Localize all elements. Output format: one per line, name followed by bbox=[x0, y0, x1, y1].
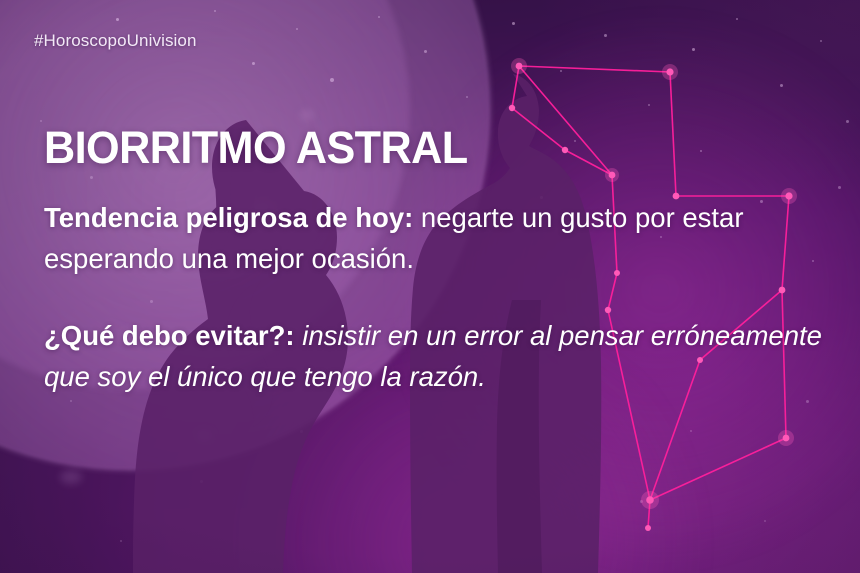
paragraph-tendencia: Tendencia peligrosa de hoy: negarte un g… bbox=[44, 198, 834, 279]
paragraph-evitar-lead: ¿Qué debo evitar?: bbox=[44, 320, 295, 351]
hashtag-label: #HoroscopoUnivision bbox=[34, 31, 197, 51]
paragraph-tendencia-lead: Tendencia peligrosa de hoy: bbox=[44, 202, 413, 233]
horoscope-card: #HoroscopoUnivision BIORRITMO ASTRAL Ten… bbox=[0, 0, 860, 573]
page-title: BIORRITMO ASTRAL bbox=[44, 125, 468, 170]
paragraph-evitar: ¿Qué debo evitar?: insistir en un error … bbox=[44, 316, 834, 397]
content-layer: #HoroscopoUnivision BIORRITMO ASTRAL Ten… bbox=[0, 0, 860, 573]
body-text: Tendencia peligrosa de hoy: negarte un g… bbox=[44, 198, 834, 398]
